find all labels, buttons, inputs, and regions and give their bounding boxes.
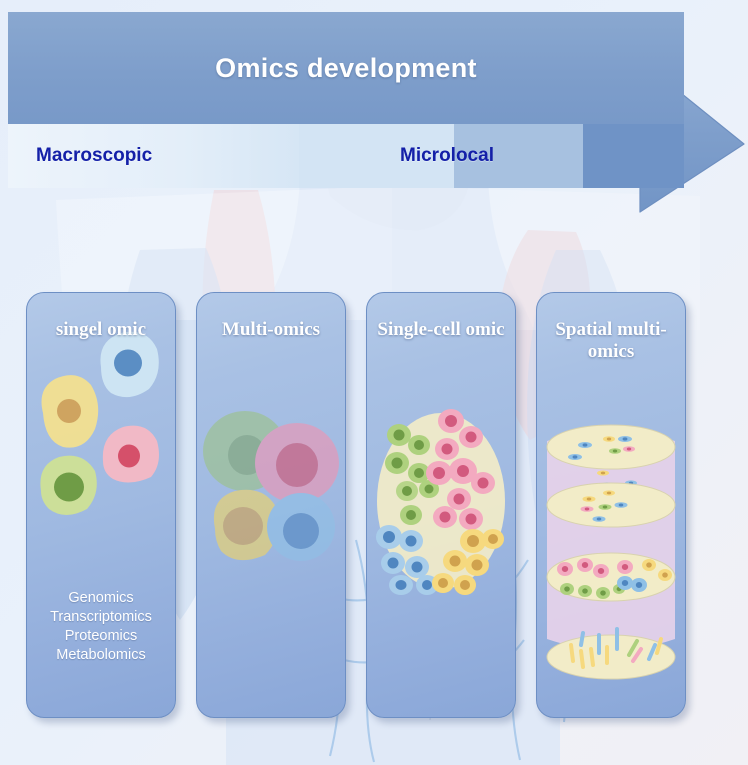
scale-label-microlocal: Microlocal (400, 124, 494, 188)
panel-title-spatial-multi-omics: Spatial multi-omics (537, 319, 685, 364)
omics-list: Genomics Transcriptomics Proteomics Meta… (27, 589, 175, 666)
panel-singel-omic[interactable]: singel omic Genomics Transcriptomics Pro… (26, 292, 176, 718)
omics-item-metabolomics: Metabolomics (27, 646, 175, 665)
omics-item-genomics: Genomics (27, 589, 175, 608)
page-title: Omics development (8, 12, 684, 124)
omics-item-transcriptomics: Transcriptomics (27, 608, 175, 627)
panel-row: singel omic Genomics Transcriptomics Pro… (0, 292, 748, 722)
omics-item-proteomics: Proteomics (27, 627, 175, 646)
banner: Omics development (8, 12, 684, 124)
panel-multi-omics[interactable]: Multi-omics (196, 292, 346, 718)
figure-canvas: Omics development Macroscopic Microlocal (0, 0, 748, 765)
scale-label-macroscopic: Macroscopic (36, 124, 152, 188)
panel-title-multi-omics: Multi-omics (197, 319, 345, 341)
panel-spatial-multi-omics[interactable]: Spatial multi-omics (536, 292, 686, 718)
single-cell-tissue-illustration (367, 293, 515, 717)
panel-title-single-cell-omic: Single-cell omic (367, 319, 515, 341)
scale-segment-4 (583, 124, 684, 188)
panel-title-singel-omic: singel omic (27, 319, 175, 341)
multi-omics-cells-illustration (197, 293, 345, 717)
panel-single-cell-omic[interactable]: Single-cell omic (366, 292, 516, 718)
